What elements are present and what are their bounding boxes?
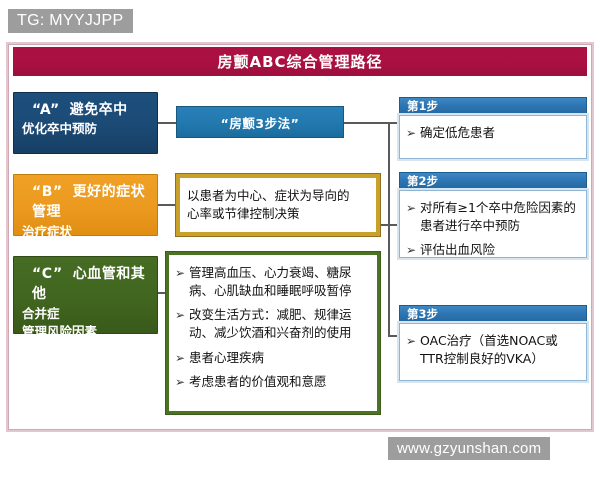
step-2-body: ➢ 对所有≥1个卒中危险因素的患者进行卒中预防 ➢ 评估出血风险 <box>399 190 587 258</box>
step-3-header-label: 第3步 <box>407 306 438 322</box>
connector-c-to-cdesc <box>158 292 166 294</box>
three-step-method-box[interactable]: “房颤3步法” <box>176 106 344 138</box>
abc-b-line-1: 治疗症状 <box>22 223 149 241</box>
abc-box-b[interactable]: “B”更好的症状管理 治疗症状 <box>13 174 158 236</box>
bullet-arrow-icon: ➢ <box>406 124 420 142</box>
abc-c-line-1: 合并症 <box>22 305 149 323</box>
abc-a-headline: 避免卒中 <box>70 102 128 118</box>
list-item: ➢ 确定低危患者 <box>406 124 580 142</box>
step-2-card[interactable]: 第2步 ➢ 对所有≥1个卒中危险因素的患者进行卒中预防 ➢ 评估出血风险 <box>399 172 587 258</box>
connector-3step-to-trunk <box>344 122 390 124</box>
step-1-header-label: 第1步 <box>407 98 438 114</box>
c-description-box[interactable]: ➢ 管理高血压、心力衰竭、糖尿病、心肌缺血和睡眠呼吸暂停 ➢ 改变生活方式：减肥… <box>166 252 380 414</box>
list-item: ➢ 患者心理疾病 <box>175 349 371 367</box>
three-step-method-label: “房颤3步法” <box>221 113 300 132</box>
step-2-bullet-1: 对所有≥1个卒中危险因素的患者进行卒中预防 <box>420 199 580 235</box>
page-title: 房颤ABC综合管理路径 <box>13 47 587 76</box>
connector-a-to-3step <box>158 122 176 124</box>
connector-trunk-to-step1 <box>388 122 399 124</box>
step-1-card[interactable]: 第1步 ➢ 确定低危患者 <box>399 97 587 159</box>
connector-b-to-bdesc <box>158 204 176 206</box>
bullet-arrow-icon: ➢ <box>406 199 420 217</box>
watermark-bottom-text: www.gzyunshan.com <box>397 440 541 457</box>
watermark-bottom: www.gzyunshan.com <box>388 437 550 460</box>
step-3-card[interactable]: 第3步 ➢ OAC治疗（首选NOAC或TTR控制良好的VKA） <box>399 305 587 381</box>
bullet-arrow-icon: ➢ <box>175 349 189 367</box>
abc-b-tag: “B” <box>32 184 63 200</box>
c-bullet-1: 管理高血压、心力衰竭、糖尿病、心肌缺血和睡眠呼吸暂停 <box>189 264 371 300</box>
connector-trunk-to-step3 <box>388 335 399 337</box>
list-item: ➢ 改变生活方式：减肥、规律运动、减少饮酒和兴奋剂的使用 <box>175 306 371 342</box>
abc-a-line-1: 优化卒中预防 <box>22 120 149 138</box>
bullet-arrow-icon: ➢ <box>175 264 189 282</box>
watermark-top-text: TG: MYYJJPP <box>17 12 123 30</box>
bullet-arrow-icon: ➢ <box>406 241 420 259</box>
c-bullet-4: 考虑患者的价值观和意愿 <box>189 373 327 391</box>
list-item: ➢ 考虑患者的价值观和意愿 <box>175 373 371 391</box>
abc-b-lead: “B”更好的症状管理 <box>22 182 149 223</box>
b-description-text: 以患者为中心、症状为导向的 心率或节律控制决策 <box>187 187 350 223</box>
c-bullet-list: ➢ 管理高血压、心力衰竭、糖尿病、心肌缺血和睡眠呼吸暂停 ➢ 改变生活方式：减肥… <box>169 255 377 391</box>
abc-box-a[interactable]: “A”避免卒中 优化卒中预防 <box>13 92 158 154</box>
abc-c-line-2: 管理风险因素 <box>22 323 149 341</box>
abc-a-tag: “A” <box>32 102 60 118</box>
diagram-canvas: TG: MYYJJPP www.gzyunshan.com 房颤ABC综合管理路… <box>0 0 600 480</box>
abc-c-lead: “C”心血管和其他 <box>22 264 149 305</box>
step-3-body: ➢ OAC治疗（首选NOAC或TTR控制良好的VKA） <box>399 323 587 381</box>
bullet-arrow-icon: ➢ <box>175 373 189 391</box>
list-item: ➢ 评估出血风险 <box>406 241 580 259</box>
abc-c-tag: “C” <box>32 266 63 282</box>
step-1-bullet-1: 确定低危患者 <box>420 124 495 142</box>
page-title-text: 房颤ABC综合管理路径 <box>217 51 382 72</box>
abc-box-c[interactable]: “C”心血管和其他 合并症 管理风险因素 <box>13 256 158 334</box>
list-item: ➢ 对所有≥1个卒中危险因素的患者进行卒中预防 <box>406 199 580 235</box>
step-3-header: 第3步 <box>399 305 587 323</box>
b-description-line-1: 以患者为中心、症状为导向的 <box>187 187 350 205</box>
c-bullet-3: 患者心理疾病 <box>189 349 264 367</box>
list-item: ➢ 管理高血压、心力衰竭、糖尿病、心肌缺血和睡眠呼吸暂停 <box>175 264 371 300</box>
step-2-header-label: 第2步 <box>407 173 438 189</box>
bullet-arrow-icon: ➢ <box>175 306 189 324</box>
connector-trunk-to-step2 <box>380 224 399 226</box>
step-2-bullet-2: 评估出血风险 <box>420 241 495 259</box>
b-description-box[interactable]: 以患者为中心、症状为导向的 心率或节律控制决策 <box>176 174 380 236</box>
list-item: ➢ OAC治疗（首选NOAC或TTR控制良好的VKA） <box>406 332 580 368</box>
abc-a-lead: “A”避免卒中 <box>22 100 149 120</box>
connector-trunk-vertical <box>388 122 390 337</box>
step-1-header: 第1步 <box>399 97 587 115</box>
watermark-top: TG: MYYJJPP <box>8 9 133 33</box>
step-1-body: ➢ 确定低危患者 <box>399 115 587 159</box>
bullet-arrow-icon: ➢ <box>406 332 420 350</box>
b-description-line-2: 心率或节律控制决策 <box>187 205 350 223</box>
step-2-header: 第2步 <box>399 172 587 190</box>
c-bullet-2: 改变生活方式：减肥、规律运动、减少饮酒和兴奋剂的使用 <box>189 306 371 342</box>
step-3-bullet-1: OAC治疗（首选NOAC或TTR控制良好的VKA） <box>420 332 580 368</box>
